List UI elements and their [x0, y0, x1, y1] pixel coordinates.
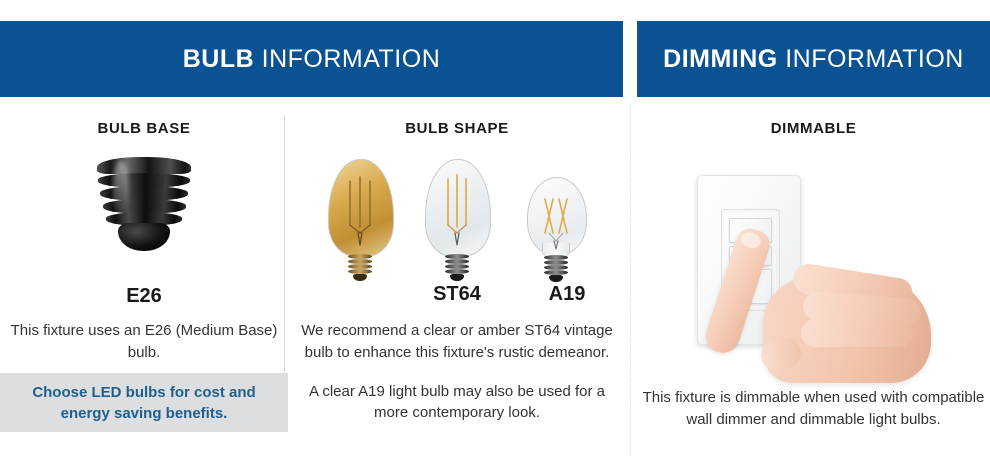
bulb-shape-description-2: A clear A19 light bulb may also be used …	[292, 381, 622, 425]
bulb-base-description: This fixture uses an E26 (Medium Base) b…	[0, 320, 288, 364]
panel-divider	[630, 104, 631, 456]
bulb-information-title-light: INFORMATION	[262, 45, 441, 73]
st64-clear-bulb-icon	[425, 159, 489, 281]
bulb-shape-description-1: We recommend a clear or amber ST64 vinta…	[292, 320, 622, 364]
bulb-information-title-strong: BULB	[183, 45, 254, 73]
brass-screw-cap-icon	[348, 254, 372, 281]
bulb-base-column: BULB BASE E26 This fixture uses an E26 (…	[0, 120, 288, 364]
e26-screw-base-icon	[0, 157, 288, 279]
dark-screw-cap-icon	[445, 254, 469, 281]
bulb-name-st64: ST64	[402, 283, 512, 306]
fingernail	[739, 230, 763, 250]
bulb-information-header-band: BULB INFORMATION	[0, 21, 623, 97]
dimming-information-title-strong: DIMMING	[663, 45, 778, 73]
led-callout-text: Choose LED bulbs for cost and energy sav…	[0, 382, 288, 424]
filament-icon	[527, 177, 585, 257]
led-callout-box: Choose LED bulbs for cost and energy sav…	[0, 373, 288, 432]
wall-dimmer-switch-icon	[637, 153, 990, 383]
bulb-shape-column: BULB SHAPE	[292, 120, 622, 424]
dimming-information-title: DIMMING INFORMATION	[663, 45, 964, 74]
dimmable-description: This fixture is dimmable when used with …	[637, 387, 990, 431]
bulb-shape-images	[292, 151, 622, 281]
dimmable-column: DIMMABLE This fixture is dimma	[637, 120, 990, 431]
bulb-information-title: BULB INFORMATION	[183, 45, 441, 74]
bulb-shape-heading: BULB SHAPE	[292, 120, 622, 137]
bulb-name-blank	[292, 283, 402, 306]
st64-amber-bulb-icon	[328, 159, 392, 281]
dimming-information-header-band: DIMMING INFORMATION	[637, 21, 990, 97]
hand-finger-pinky	[801, 319, 913, 347]
bulb-base-spec-label: E26	[0, 285, 288, 308]
dimmable-heading: DIMMABLE	[637, 120, 990, 137]
filament-icon	[328, 159, 392, 255]
bulb-shape-labels: ST64 A19	[292, 283, 622, 306]
dimming-information-title-light: INFORMATION	[785, 45, 964, 73]
bulb-name-a19: A19	[512, 283, 622, 306]
bulb-information-infographic: BULB INFORMATION DIMMING INFORMATION BUL…	[0, 0, 990, 460]
hand-icon	[741, 225, 931, 385]
dark-screw-cap-icon	[544, 255, 568, 281]
filament-icon	[425, 159, 489, 255]
a19-clear-bulb-icon	[527, 177, 585, 281]
bulb-base-heading: BULB BASE	[0, 120, 288, 137]
